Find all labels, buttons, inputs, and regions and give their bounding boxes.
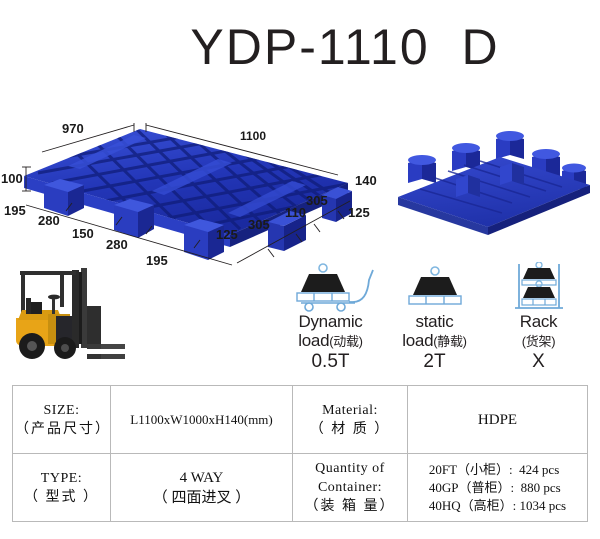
dim-side-1: 125	[216, 227, 238, 242]
load-label-line2: load(静载)	[382, 331, 487, 351]
cell-size-label: SIZE: （产品尺寸）	[13, 386, 111, 454]
load-cell-static: static load(静载) 2T	[382, 262, 487, 372]
load-cell-rack: Rack (货架) X	[486, 262, 591, 372]
specification-table: SIZE: （产品尺寸） L1100xW1000xH140(mm) Materi…	[12, 385, 588, 522]
load-value-rack: X	[486, 351, 591, 372]
cell-type-label: TYPE: （ 型式 ）	[13, 454, 111, 522]
dim-front-4: 280	[106, 237, 128, 252]
load-label-line1: static	[382, 312, 487, 331]
load-label-line2: load(动载)	[278, 331, 383, 351]
page-title: YDP-1110 D	[0, 18, 600, 76]
dim-right-height: 140	[355, 173, 377, 188]
rack-load-icon	[486, 262, 591, 312]
dim-side-2: 305	[248, 217, 270, 232]
load-capacity-row: Dynamic load(动载) 0.5T static load(静载) 2T	[278, 262, 593, 377]
cell-size-value: L1100xW1000xH140(mm)	[111, 386, 293, 454]
dim-side-3: 110	[285, 205, 306, 220]
forklift-photo	[8, 258, 138, 376]
static-pallet-load-icon	[382, 262, 487, 312]
load-value-dynamic: 0.5T	[278, 351, 383, 372]
dim-front-1: 195	[4, 203, 26, 218]
dim-front-5: 195	[146, 253, 168, 268]
dim-top-left: 970	[62, 121, 84, 136]
dim-front-2: 280	[38, 213, 60, 228]
dim-front-3: 150	[72, 226, 94, 241]
dim-side-4: 305	[306, 193, 328, 208]
load-label-line1: Rack	[486, 312, 591, 331]
cell-material-label: Material: （ 材 质 ）	[293, 386, 408, 454]
cell-quantity-value: 20FT（小柜）: 424 pcs 40GP（普柜）: 880 pcs 40HQ…	[408, 454, 588, 522]
hand-truck-load-icon	[278, 262, 383, 312]
product-diagram: 970 1100 100 140 195 280 150 280 195 125…	[0, 105, 600, 280]
dim-side-5: 125	[348, 205, 370, 220]
dim-top-right: 1100	[240, 129, 266, 143]
container-quantity-list: 20FT（小柜）: 424 pcs 40GP（普柜）: 880 pcs 40HQ…	[429, 461, 566, 515]
table-row: SIZE: （产品尺寸） L1100xW1000xH140(mm) Materi…	[13, 386, 588, 454]
dim-left-height: 100	[1, 171, 23, 186]
load-label-line2: (货架)	[486, 331, 591, 351]
pallet-top-isometric	[22, 123, 352, 268]
table-row: TYPE: （ 型式 ） 4 WAY （ 四面进叉 ） Quantity of …	[13, 454, 588, 522]
load-value-static: 2T	[382, 351, 487, 372]
load-label-line1: Dynamic	[278, 312, 383, 331]
cell-material-value: HDPE	[408, 386, 588, 454]
load-cell-dynamic: Dynamic load(动载) 0.5T	[278, 262, 383, 372]
cell-type-value: 4 WAY （ 四面进叉 ）	[111, 454, 293, 522]
pallet-bottom-isometric	[392, 127, 592, 237]
cell-quantity-label: Quantity of Container: （装 箱 量）	[293, 454, 408, 522]
